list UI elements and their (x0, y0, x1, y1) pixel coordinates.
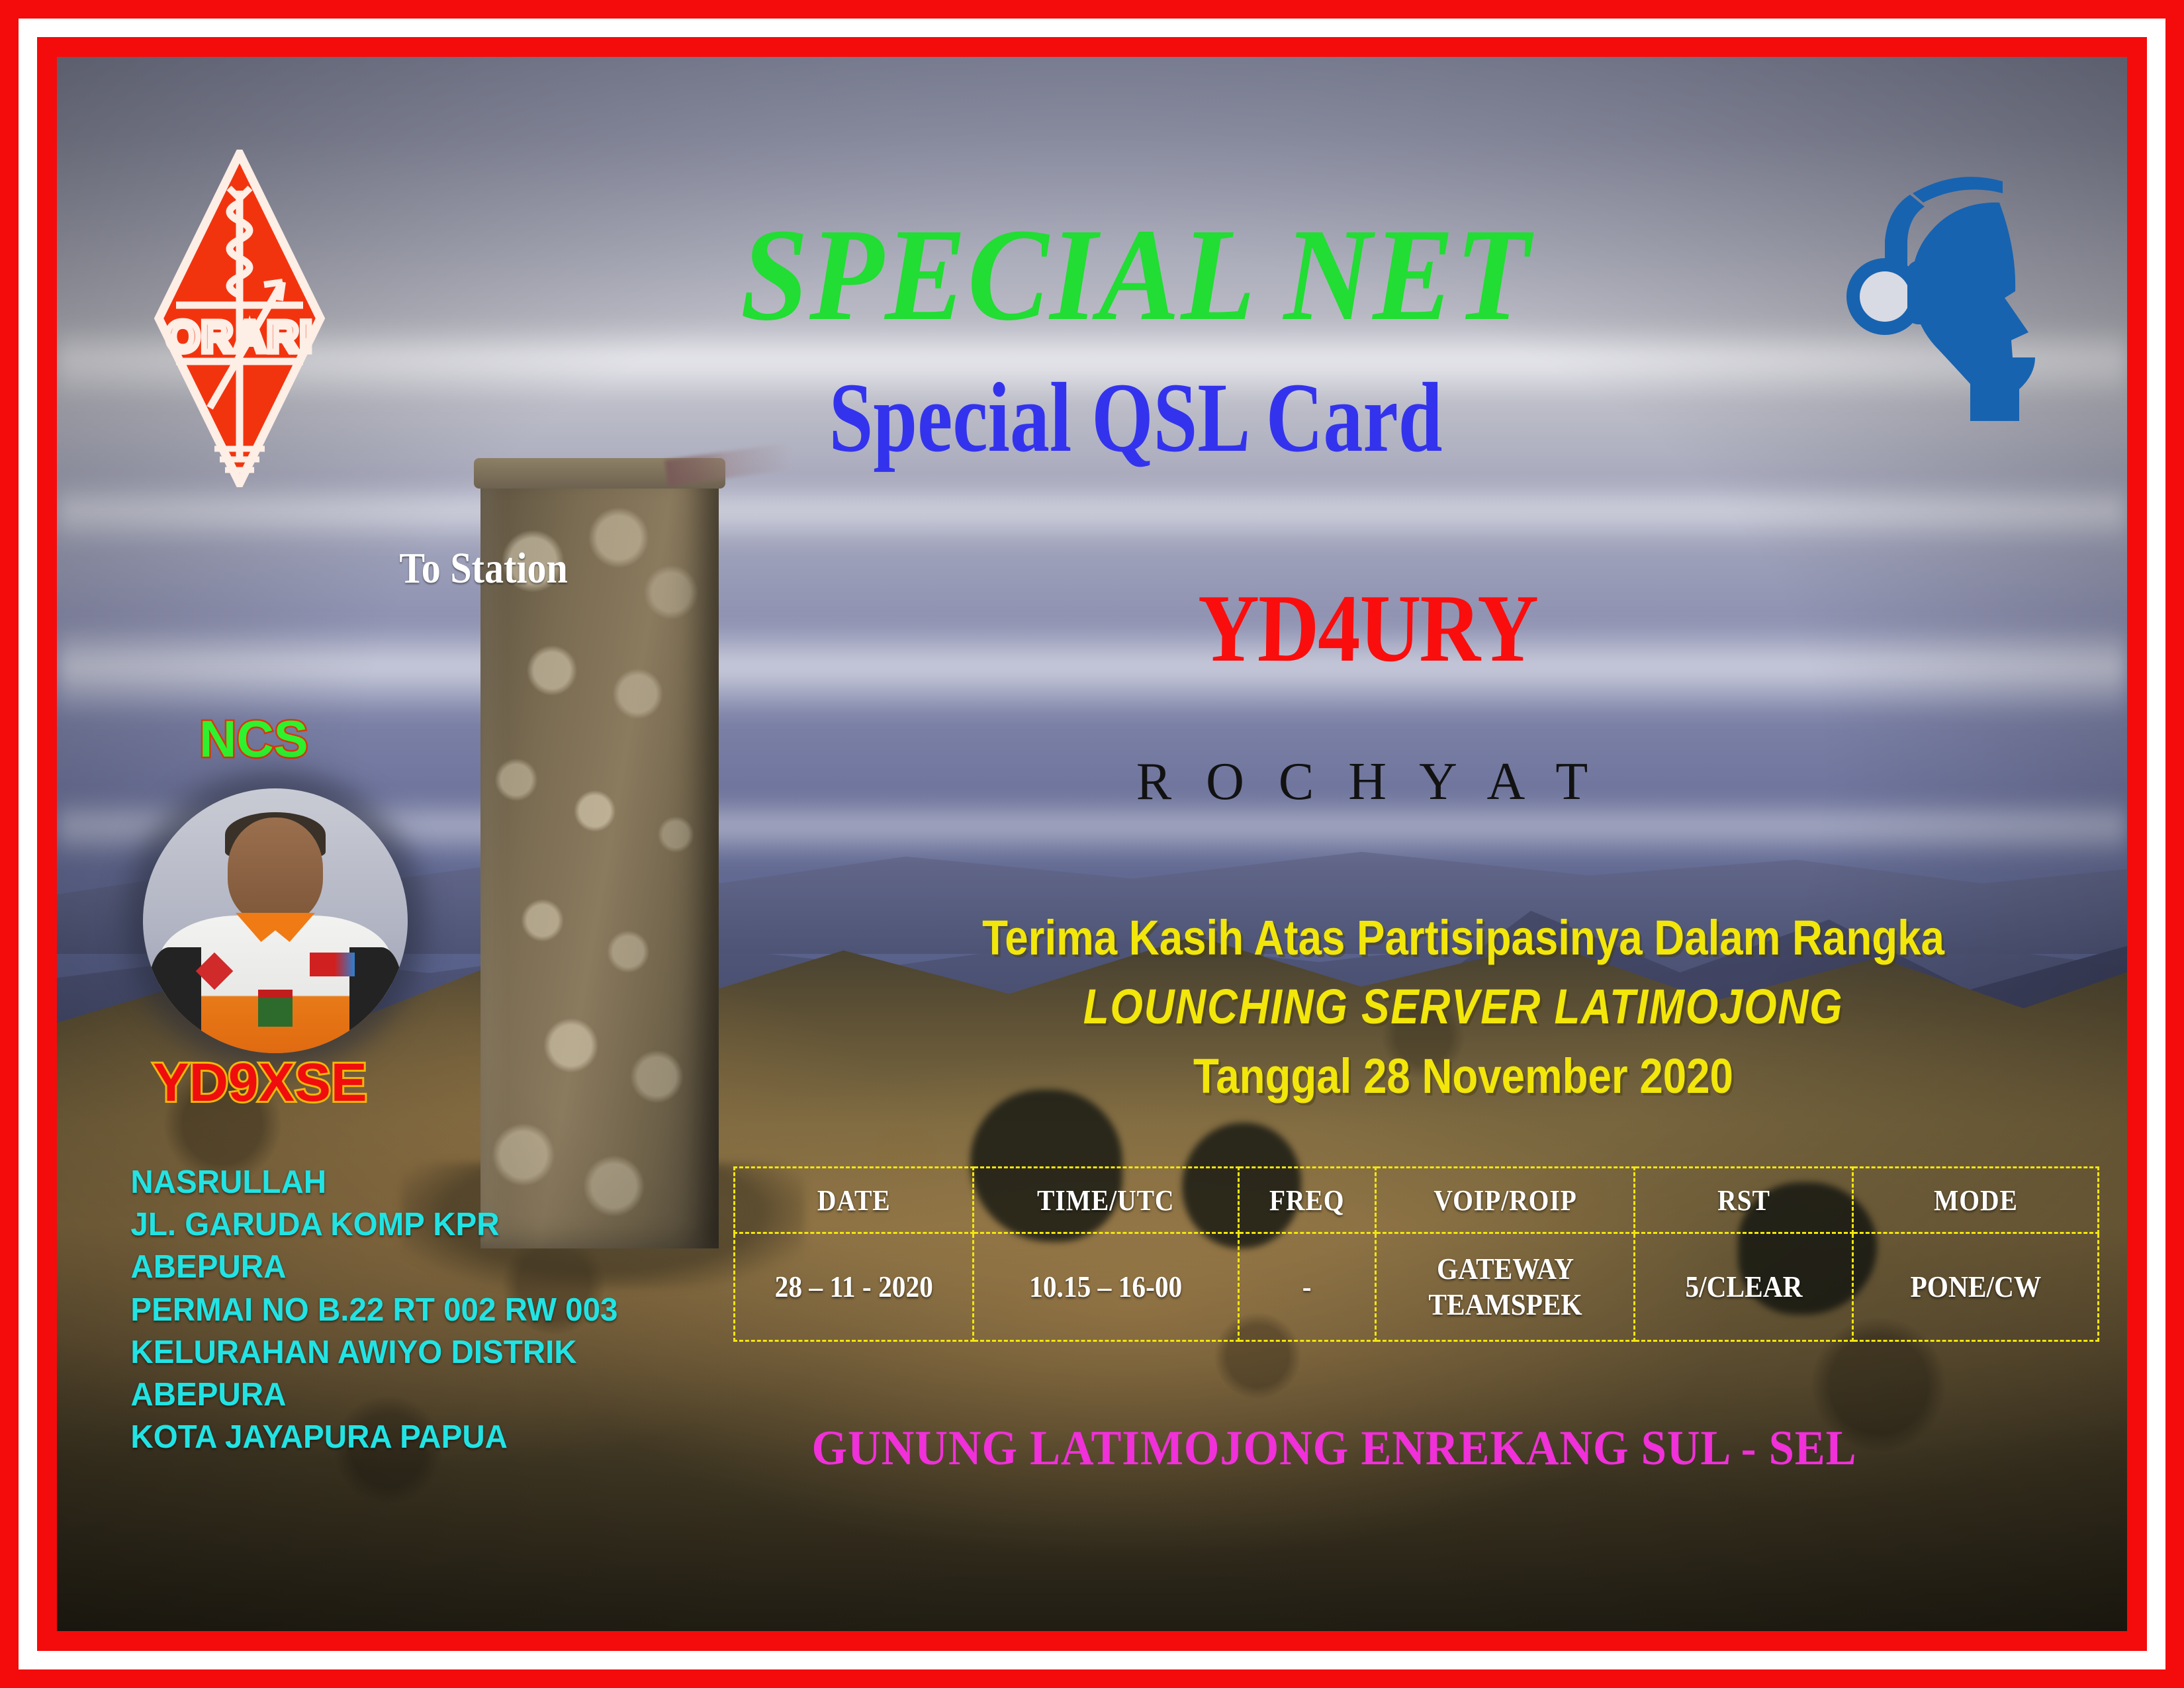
cell-rst: 5/CLEAR (1645, 1233, 1842, 1341)
address-line: KOTA JAYAPURA PAPUA (130, 1416, 617, 1458)
orari-logo: ORARI (154, 150, 326, 487)
address-line: NASRULLAH (130, 1161, 617, 1203)
address-line: JL. GARUDA KOMP KPR (130, 1203, 617, 1246)
column-header-mode: MODE (1865, 1168, 2086, 1233)
address-line: PERMAI NO B.22 RT 002 RW 003 (130, 1289, 617, 1331)
address-line: ABEPURA (130, 1374, 617, 1416)
cell-voip: GATEWAY TEAMSPEK (1388, 1233, 1621, 1341)
column-header-voip: VOIP/ROIP (1388, 1168, 1621, 1233)
station-callsign: YD4URY (988, 580, 1747, 677)
photo-head (228, 818, 323, 923)
qso-table: DATE TIME/UTC FREQ VOIP/ROIP RST MODE 28… (733, 1166, 2099, 1342)
ncs-label: NCS (199, 709, 308, 769)
table-row: 28 – 11 - 2020 10.15 – 16-00 - GATEWAY T… (735, 1233, 2099, 1341)
page-title: SPECIAL NET (569, 209, 1702, 342)
column-header-time: TIME/UTC (986, 1168, 1225, 1233)
thanks-line-1: Terima Kasih Atas Partisipasinya Dalam R… (923, 910, 2004, 966)
orari-wordmark: ORARI (166, 312, 314, 361)
page-subtitle: Special QSL Card (643, 368, 1628, 467)
cell-time: 10.15 – 16-00 (986, 1233, 1225, 1341)
photo-id-card (258, 990, 293, 1027)
cell-mode: PONE/CW (1865, 1233, 2086, 1341)
qsl-card: ORARI SPECIAL NET Special QSL Card (0, 0, 2184, 1688)
cell-freq: - (1246, 1233, 1369, 1341)
address-line: ABEPURA (130, 1246, 617, 1288)
column-header-rst: RST (1645, 1168, 1842, 1233)
photo-sleeve-left (148, 947, 201, 1053)
ncs-callsign: YD9XSE (153, 1052, 367, 1114)
operator-photo (143, 788, 408, 1053)
column-header-date: DATE (747, 1168, 961, 1233)
orari-diamond-icon: ORARI (154, 150, 326, 487)
photo-badge-right (310, 953, 355, 976)
postal-address: NASRULLAH JL. GARUDA KOMP KPR ABEPURA PE… (130, 1161, 617, 1458)
headphones-profile-icon (1844, 156, 2122, 421)
column-header-freq: FREQ (1246, 1168, 1369, 1233)
photo-sleeve-right (349, 947, 402, 1053)
radio-operator-logo (1844, 156, 2122, 421)
location-caption: GUNUNG LATIMOJONG ENREKANG SUL - SEL (750, 1421, 1919, 1477)
table-header-row: DATE TIME/UTC FREQ VOIP/ROIP RST MODE (735, 1168, 2099, 1233)
operator-name: R O C H Y A T (937, 755, 1797, 808)
card-photo-background: ORARI SPECIAL NET Special QSL Card (57, 57, 2127, 1631)
thanks-line-2: LOUNCHING SERVER LATIMOJONG (923, 978, 2004, 1035)
address-line: KELURAHAN AWIYO DISTRIK (130, 1331, 617, 1374)
cell-date: 28 – 11 - 2020 (747, 1233, 961, 1341)
thanks-line-3: Tanggal 28 November 2020 (923, 1048, 2004, 1104)
to-station-label: To Station (399, 543, 567, 594)
